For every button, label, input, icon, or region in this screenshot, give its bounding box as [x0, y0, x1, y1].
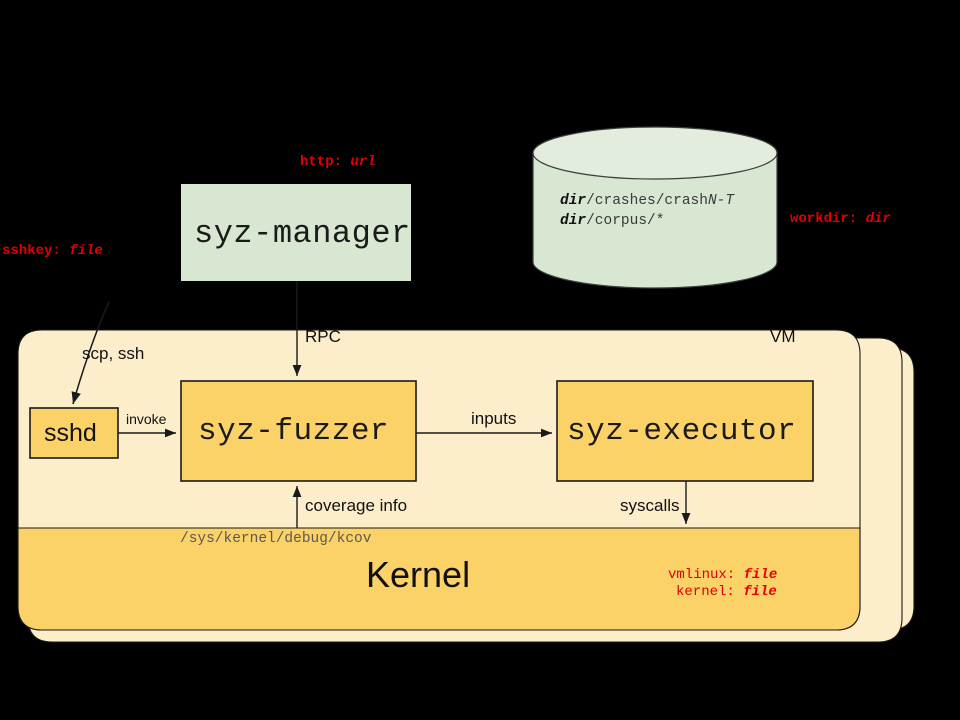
annotation-workdir-value: dir — [866, 211, 891, 227]
edge-label-rpc: RPC — [305, 328, 341, 345]
annotation-workdir: workdir: dir — [790, 212, 891, 226]
workdir-path-crashes-var: N-T — [708, 193, 734, 209]
annotation-vmlinux-key: vmlinux: — [668, 567, 735, 583]
edge-label-invoke: invoke — [126, 412, 166, 426]
annotation-http-key: http: — [300, 154, 342, 170]
workdir-path-corpus-dir: dir — [560, 213, 586, 229]
edge-label-scp-ssh: scp, ssh — [82, 345, 144, 362]
sshd-label: sshd — [44, 421, 97, 446]
edge-label-coverage-info: coverage info — [305, 497, 407, 514]
annotation-http-value: url — [350, 154, 375, 170]
syz-fuzzer-label: syz-fuzzer — [198, 416, 389, 447]
workdir-path-corpus: dir/corpus/* — [560, 214, 664, 229]
diagram-canvas: http: url sshkey: file workdir: dir syz-… — [0, 0, 960, 720]
annotation-kernel-image: kernel: file — [676, 585, 777, 599]
annotation-sshkey-value: file — [69, 243, 103, 259]
annotation-vmlinux-value: file — [744, 567, 778, 583]
syz-manager-label: syz-manager — [194, 218, 411, 250]
annotation-sshkey-key: sshkey: — [2, 243, 61, 259]
annotation-kernel-image-value: file — [743, 584, 777, 600]
workdir-path-crashes-dir: dir — [560, 193, 586, 209]
kcov-path-label: /sys/kernel/debug/kcov — [180, 532, 371, 547]
edge-label-syscalls: syscalls — [620, 497, 680, 514]
workdir-path-crashes: dir/crashes/crashN-T — [560, 194, 734, 209]
annotation-kernel-image-key: kernel: — [676, 584, 735, 600]
syz-executor-label: syz-executor — [567, 416, 796, 447]
kernel-label: Kernel — [366, 557, 470, 593]
annotation-workdir-key: workdir: — [790, 211, 857, 227]
edge-label-inputs: inputs — [471, 410, 516, 427]
annotation-sshkey: sshkey: file — [2, 244, 103, 258]
annotation-http: http: url — [300, 155, 376, 169]
vm-label: VM — [770, 328, 796, 345]
annotation-vmlinux: vmlinux: file — [668, 568, 777, 582]
